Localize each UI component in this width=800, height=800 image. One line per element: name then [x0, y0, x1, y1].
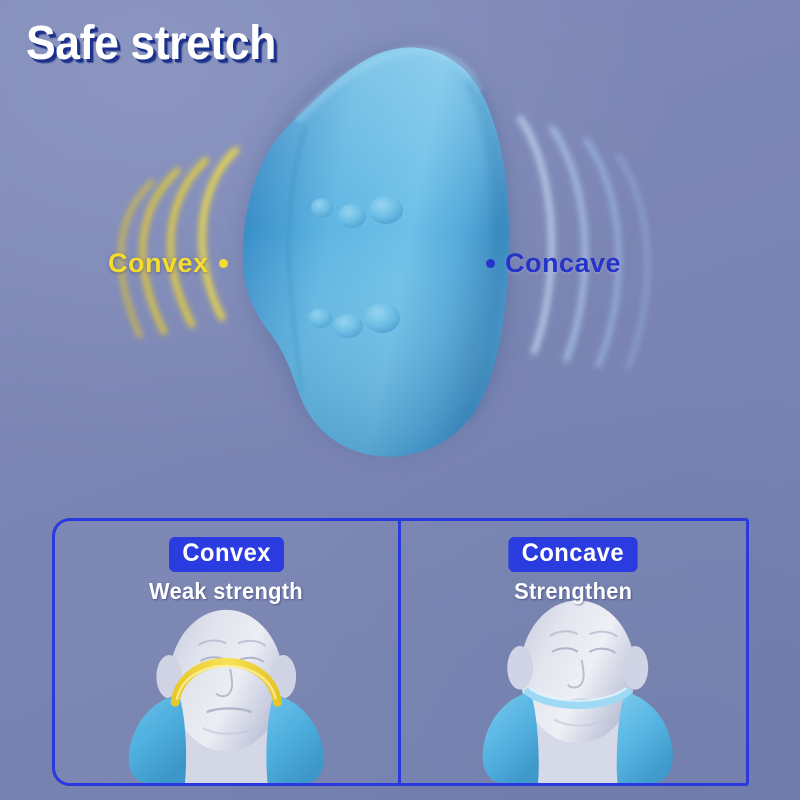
subtitle-convex: Weak strength: [149, 578, 303, 605]
subtitle-concave: Strengthen: [514, 578, 632, 605]
panel-concave: Concave Strengthen: [401, 521, 747, 783]
hero-label-concave-text: Concave: [505, 248, 621, 279]
figure-convex: [55, 593, 398, 783]
product-marketing-image: Convex Concave Safe stretch Convex Weak …: [0, 0, 800, 800]
convex-dot-icon: [219, 259, 228, 268]
page-title: Safe stretch: [26, 16, 276, 71]
figure-concave: [401, 593, 747, 783]
foam-neck-stretcher: [243, 48, 509, 457]
concave-dot-icon: [486, 259, 495, 268]
badge-convex: Convex: [169, 537, 284, 572]
badge-concave: Concave: [509, 537, 638, 572]
panel-convex: Convex Weak strength: [55, 521, 401, 783]
comparison-frame: Convex Weak strength: [52, 518, 749, 786]
concave-wave-arcs: [520, 118, 647, 368]
hero-section: Convex Concave: [0, 0, 800, 500]
hero-label-concave: Concave: [486, 248, 621, 279]
hero-label-convex: Convex: [108, 248, 228, 279]
convex-wave-arcs: [121, 150, 236, 336]
hero-label-convex-text: Convex: [108, 248, 209, 279]
